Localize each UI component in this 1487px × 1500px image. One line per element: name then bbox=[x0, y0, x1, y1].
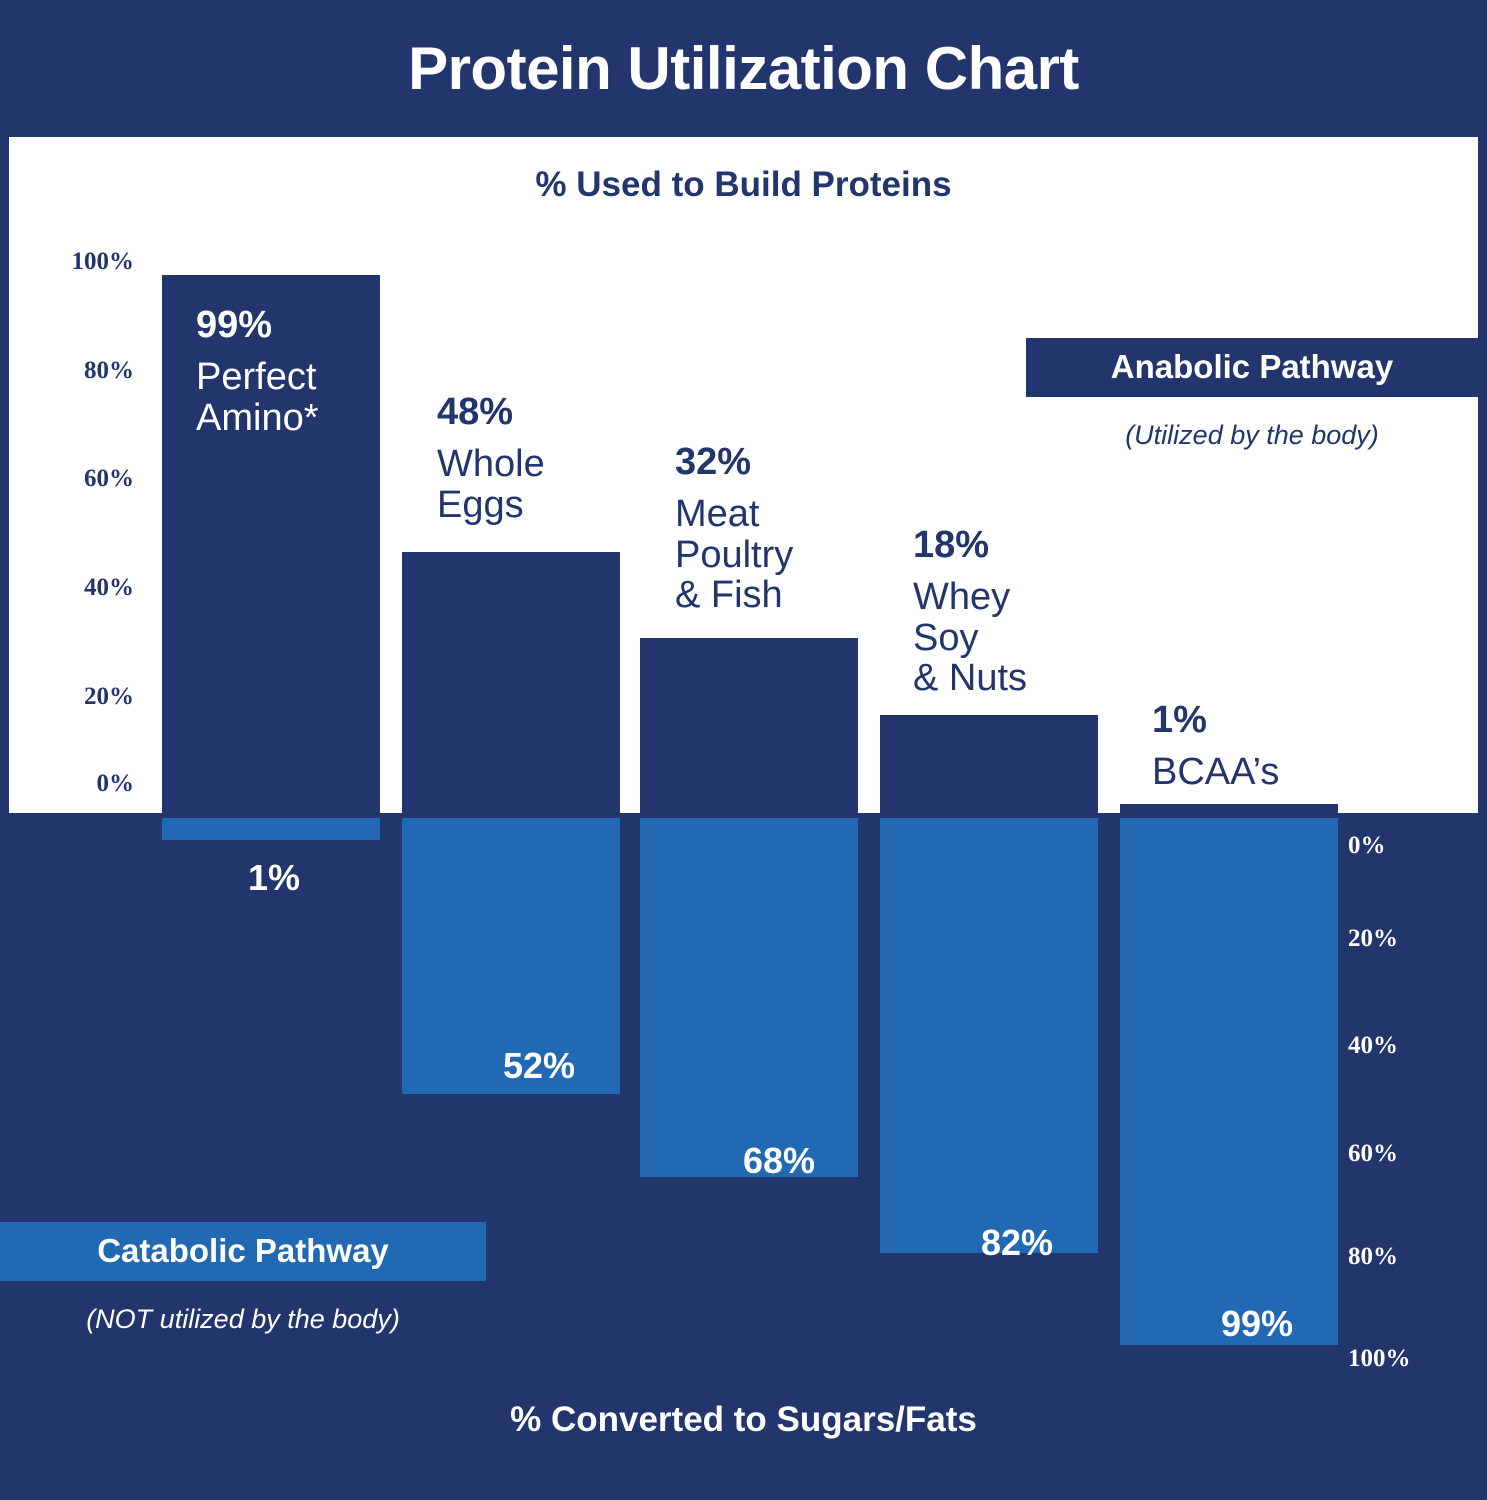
bar-top-whole-eggs[interactable] bbox=[402, 552, 620, 813]
right-axis-tick-100: 100% bbox=[1348, 1345, 1468, 1373]
bar-label-bcaas: 1% BCAA’s bbox=[1152, 700, 1367, 793]
left-axis-tick-100: 100% bbox=[26, 248, 134, 276]
legend-catabolic-sublabel: (NOT utilized by the body) bbox=[0, 1304, 486, 1335]
bar-value-perfect-amino: 1% bbox=[160, 857, 300, 899]
legend-anabolic-badge: Anabolic Pathway bbox=[1026, 338, 1478, 397]
upper-axis-title: % Used to Build Proteins bbox=[0, 165, 1487, 205]
bar-bottom-perfect-amino[interactable] bbox=[162, 818, 380, 840]
left-axis-tick-0: 0% bbox=[26, 770, 134, 798]
bar-label-perfect-amino: 99% Perfect Amino* bbox=[196, 305, 396, 438]
bar-pct-whole-eggs: 48% bbox=[437, 392, 647, 432]
bar-top-meat-poultry-fish[interactable] bbox=[640, 638, 858, 813]
right-axis-tick-0: 0% bbox=[1348, 832, 1468, 860]
bar-name-perfect-amino: Perfect Amino* bbox=[196, 357, 396, 438]
bar-value-whey-soy-nuts: 82% bbox=[898, 1222, 1053, 1264]
bar-value-meat-poultry-fish: 68% bbox=[660, 1140, 815, 1182]
bar-name-whey-soy-nuts: Whey Soy & Nuts bbox=[913, 577, 1128, 698]
bar-pct-meat-poultry-fish: 32% bbox=[675, 442, 890, 482]
right-axis-tick-40: 40% bbox=[1348, 1032, 1468, 1060]
bar-value-bcaas: 99% bbox=[1138, 1303, 1293, 1345]
bar-bottom-whey-soy-nuts[interactable] bbox=[880, 818, 1098, 1253]
chart-header: Protein Utilization Chart bbox=[0, 0, 1487, 137]
bar-pct-bcaas: 1% bbox=[1152, 700, 1367, 740]
bar-top-bcaas[interactable] bbox=[1120, 804, 1338, 813]
bar-label-whey-soy-nuts: 18% Whey Soy & Nuts bbox=[913, 525, 1128, 698]
bar-name-meat-poultry-fish: Meat Poultry & Fish bbox=[675, 494, 890, 615]
right-axis-tick-80: 80% bbox=[1348, 1243, 1468, 1271]
left-axis-tick-20: 20% bbox=[26, 683, 134, 711]
bar-name-bcaas: BCAA’s bbox=[1152, 752, 1367, 792]
bar-top-whey-soy-nuts[interactable] bbox=[880, 715, 1098, 813]
lower-axis-title: % Converted to Sugars/Fats bbox=[0, 1400, 1487, 1440]
bar-label-meat-poultry-fish: 32% Meat Poultry & Fish bbox=[675, 442, 890, 615]
card-left-edge bbox=[0, 137, 9, 813]
page-title: Protein Utilization Chart bbox=[408, 39, 1079, 99]
card-right-edge bbox=[1478, 137, 1487, 813]
bar-label-whole-eggs: 48% Whole Eggs bbox=[437, 392, 647, 525]
bar-pct-perfect-amino: 99% bbox=[196, 305, 396, 345]
legend-catabolic-badge: Catabolic Pathway bbox=[0, 1222, 486, 1281]
bar-bottom-meat-poultry-fish[interactable] bbox=[640, 818, 858, 1177]
bar-value-whole-eggs: 52% bbox=[420, 1045, 575, 1087]
left-axis-tick-60: 60% bbox=[26, 465, 134, 493]
bar-name-whole-eggs: Whole Eggs bbox=[437, 444, 647, 525]
left-axis-tick-80: 80% bbox=[26, 357, 134, 385]
left-axis-tick-40: 40% bbox=[26, 574, 134, 602]
bar-bottom-bcaas[interactable] bbox=[1120, 818, 1338, 1345]
right-axis-tick-60: 60% bbox=[1348, 1140, 1468, 1168]
protein-utilization-chart: Protein Utilization Chart % Used to Buil… bbox=[0, 0, 1487, 1500]
legend-anabolic-sublabel: (Utilized by the body) bbox=[1026, 420, 1478, 451]
bar-pct-whey-soy-nuts: 18% bbox=[913, 525, 1128, 565]
right-axis-tick-20: 20% bbox=[1348, 925, 1468, 953]
